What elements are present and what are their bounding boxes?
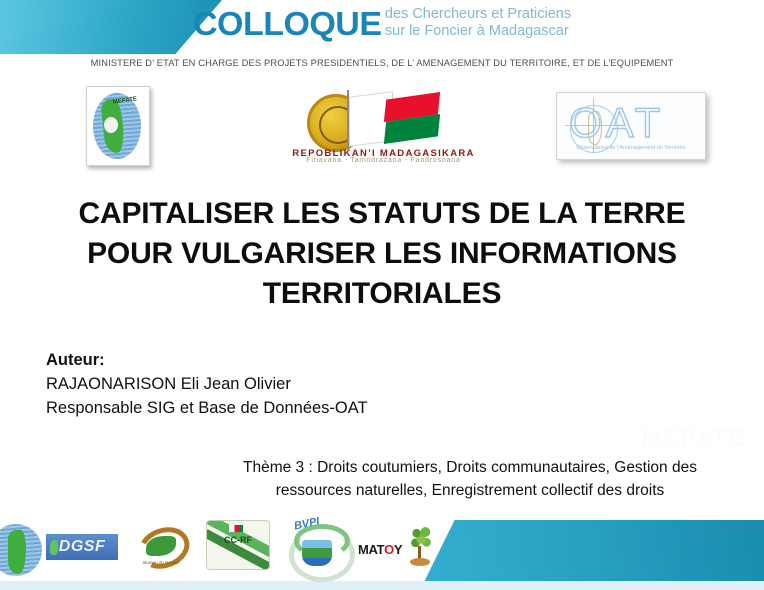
partner-logo-dgsf: DGSF xyxy=(46,534,118,560)
theme-block: Thème 3 : Droits coutumiers, Droits comm… xyxy=(190,456,750,502)
colloque-subtitle: des Chercheurs et Praticiens sur le Fonc… xyxy=(385,6,571,40)
ministere-line: MINISTERE D’ ETAT EN CHARGE DES PROJETS … xyxy=(0,58,764,68)
partner-logo-bvpi: BVPI xyxy=(286,518,348,574)
slide-header: COLLOQUE des Chercheurs et Praticiens su… xyxy=(0,0,764,80)
page-title-line1: CAPITALISER LES STATUTS DE LA TERRE xyxy=(24,194,740,234)
presentation-slide: COLLOQUE des Chercheurs et Praticiens su… xyxy=(0,0,764,590)
mepate-logo: MEPATE xyxy=(86,86,150,166)
colloque-subtitle-line2: sur le Foncier à Madagascar xyxy=(385,23,571,40)
author-name: RAJAONARISON Eli Jean Olivier xyxy=(46,372,368,396)
oat-logo: OAT Observatoire de l’Aménagement du Ter… xyxy=(556,92,706,160)
theme-line1: Thème 3 : Droits coutumiers, Droits comm… xyxy=(190,456,750,479)
repoblikani-madagasikara-logo: REPOBLIKAN’I MADAGASIKARA Fitiavana - Ta… xyxy=(285,88,482,164)
dgsf-wordmark: DGSF xyxy=(59,538,105,556)
page-title-line3: TERRITORIALES xyxy=(24,274,740,314)
partner-logo-mepate xyxy=(0,524,42,576)
partner-logo-ccrf: CC-RF xyxy=(206,520,270,570)
author-role: Responsable SIG et Base de Données-OAT xyxy=(46,396,368,420)
oat-caption: Observatoire de l’Aménagement du Territo… xyxy=(557,145,705,151)
page-title-line2: POUR VULGARISER LES INFORMATIONS xyxy=(24,234,740,274)
ccrf-flag-icon xyxy=(229,525,243,532)
matoy-wordmark: MATOY xyxy=(358,542,402,557)
colloque-lockup: COLLOQUE des Chercheurs et Praticiens su… xyxy=(0,4,764,44)
theme-line2: ressources naturelles, Enregistrement co… xyxy=(190,479,750,502)
page-title: CAPITALISER LES STATUTS DE LA TERRE POUR… xyxy=(24,194,740,314)
oat-wordmark: OAT xyxy=(569,99,664,147)
matoy-tree-icon xyxy=(410,526,432,550)
partner-logo-swirl: Bureau du Bassin xyxy=(134,526,188,570)
colloque-subtitle-line1: des Chercheurs et Praticiens xyxy=(385,6,571,23)
bottom-accent-strip xyxy=(0,581,764,590)
republic-motto: Fitiavana - Tanindrazana - Fandrosoana xyxy=(285,157,482,164)
institution-logo-row: MEPATE REPOBLIKAN’I MADAGASIKARA Fitiava… xyxy=(0,86,764,168)
mepate-watermark: MEPATE xyxy=(642,424,746,451)
author-block: Auteur: RAJAONARISON Eli Jean Olivier Re… xyxy=(46,348,368,420)
partner-logo-strip: DGSF Bureau du Bassin CC-RF BVPI MATOY xyxy=(0,516,764,578)
partner-logo-matoy: MATOY xyxy=(358,524,436,570)
matoy-soil-icon xyxy=(410,558,430,566)
swirl-caption: Bureau du Bassin xyxy=(136,560,186,565)
colloque-wordmark: COLLOQUE xyxy=(193,4,381,44)
ccrf-wordmark: CC-RF xyxy=(207,535,269,545)
author-label: Auteur: xyxy=(46,348,368,372)
bvpi-shield-icon xyxy=(302,540,332,566)
mepate-emblem-icon xyxy=(104,117,118,133)
